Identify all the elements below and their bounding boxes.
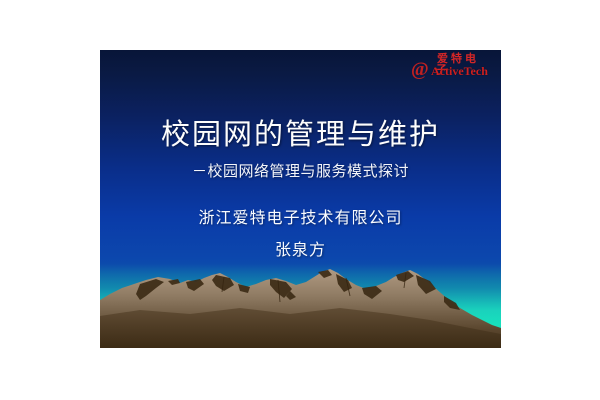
slide-subtitle: －校园网络管理与服务模式探讨 [100,162,501,182]
at-symbol-icon: @ [411,60,428,79]
slide-title: 校园网的管理与维护 [100,118,501,152]
company-logo: @ 爱特电 子 ActiveTech [411,52,497,82]
presenter-name: 张泉方 [100,240,501,262]
screenshot-canvas: @ 爱特电 子 ActiveTech 校园网的管理与维护 －校园网络管理与服务模… [0,0,600,400]
company-name: 浙江爱特电子技术有限公司 [100,208,501,230]
presentation-title-slide: @ 爱特电 子 ActiveTech 校园网的管理与维护 －校园网络管理与服务模… [100,50,501,348]
logo-english-text: ActiveTech [431,65,488,78]
mountain-range-graphic [100,258,501,348]
